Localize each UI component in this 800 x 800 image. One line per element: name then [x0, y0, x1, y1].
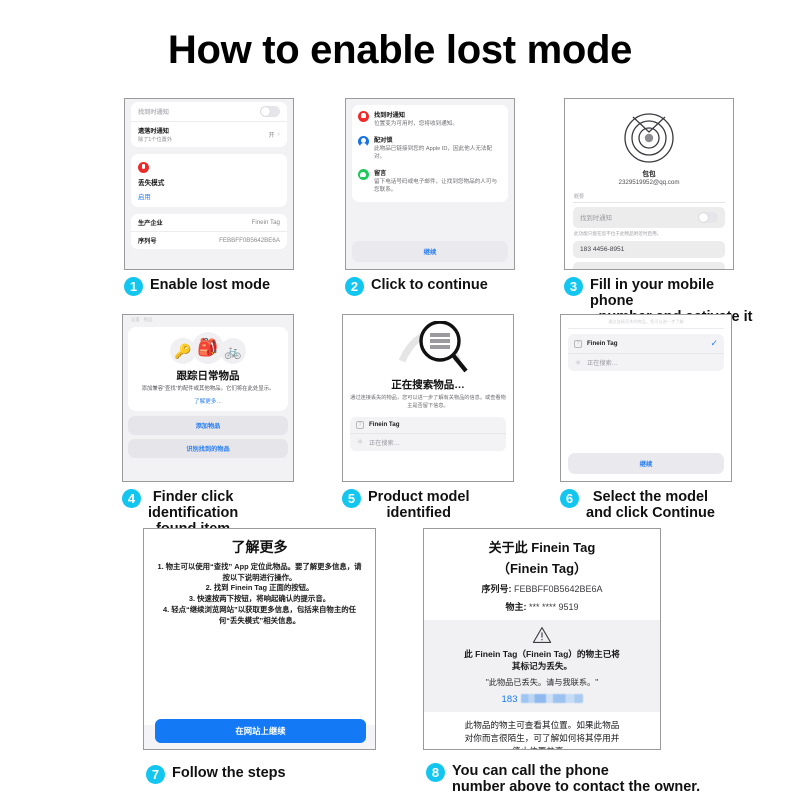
add-item-button[interactable]: 添加物品 — [128, 416, 288, 435]
screenshot-3: 包包 2329519952@qq.com 概要 找到时通知 此功能只能在您不位于… — [564, 98, 734, 270]
row-serial: 序列号 FEBBFF0B5642BE6A — [131, 232, 287, 249]
searching-icon: ✳ — [356, 438, 364, 446]
continue-button[interactable]: 继续 — [568, 453, 724, 474]
step-card-3: 包包 2329519952@qq.com 概要 找到时通知 此功能只能在您不位于… — [564, 98, 761, 326]
panel8-owner-message: "此物品已丢失。请与我联系。" — [436, 676, 648, 688]
caption-7: 7 Follow the steps — [146, 765, 406, 784]
redacted-phone-digits — [521, 694, 583, 703]
learn-more-link[interactable]: 了解更多… — [136, 397, 280, 405]
step-badge-3: 3 — [564, 277, 583, 296]
tag-square-icon: ? — [356, 421, 364, 429]
panel8-heading-1: 关于此 Finein Tag — [434, 537, 650, 556]
panel7-steps: 1. 物主可以使用“查找” App 定位此物品。要了解更多信息，请按以下说明进行… — [154, 562, 365, 626]
panel2-info-card: 找到时通知 位置变为可用时，您将收到通知。 配对锁 此物品已链接到您的 Appl… — [352, 105, 508, 202]
list-item[interactable]: ✳ 正在搜索… — [350, 433, 506, 451]
panel5-device-list: ? Finein Tag ✳ 正在搜索… — [350, 417, 506, 451]
check-icon: ✓ — [710, 338, 718, 349]
panel4-topbar: 设置 ‧ 物品 — [123, 315, 293, 323]
notify-note: 此功能只能在您不位于此物品附近时启用。 — [574, 231, 725, 237]
radar-icon — [620, 108, 678, 166]
steps-row-2: 设置 ‧ 物品 🔑 🎒 🚲 跟踪日常物品 添加兼容“查找”的配件或其他物品。它们… — [0, 314, 800, 538]
divider — [573, 202, 725, 203]
panel2-row-pairing-lock: 配对锁 此物品已链接到您的 Apple ID，因此他人无法配对。 — [358, 135, 502, 161]
panel5-paragraph: 通过连接丢失的物品，您可以进一步了解有关物品的信息。或查看物主是否留下信息。 — [350, 395, 506, 411]
screenshot-4: 设置 ‧ 物品 🔑 🎒 🚲 跟踪日常物品 添加兼容“查找”的配件或其他物品。它们… — [122, 314, 294, 482]
step-caption-8: You can call the phone number above to c… — [452, 763, 700, 795]
screenshot-8: 关于此 Finein Tag （Finein Tag） 序列号: FEBBFF0… — [423, 528, 661, 750]
panel6-device-list: ? Finein Tag ✓ ✳ 正在搜索… — [568, 334, 724, 371]
panel8-warning-line-2: 其标记为丢失。 — [436, 660, 648, 672]
row-notify-left-behind[interactable]: 遗落时通知 除了1个位置外 开 › — [131, 122, 287, 147]
caption-6: 6 Select the model and click Continue — [560, 489, 757, 521]
step-card-1: 找到时通知 遗落时通知 除了1个位置外 开 › — [124, 98, 321, 326]
backpack-icon: 🎒 — [192, 332, 224, 364]
step-badge-1: 1 — [124, 277, 143, 296]
steps-row-3: 了解更多 1. 物主可以使用“查找” App 定位此物品。要了解更多信息，请按以… — [0, 528, 800, 788]
enable-lost-mode-link[interactable]: 启用 — [138, 192, 280, 201]
panel1-group-info: 生产企业 Finein Tag 序列号 FEBBFF0B5642BE6A — [131, 214, 287, 249]
caption-2: 2 Click to continue — [345, 277, 542, 296]
owner-email: 2329519952@qq.com — [573, 179, 725, 186]
continue-on-website-button[interactable]: 在网站上继续 — [155, 719, 366, 743]
list-item[interactable]: ✳ 正在搜索… — [568, 353, 724, 371]
panel4-heading: 跟踪日常物品 — [136, 368, 280, 383]
warning-triangle-icon — [532, 626, 552, 644]
poster-root: How to enable lost mode 找到时通知 遗落时通知 除了1个 — [0, 0, 800, 800]
panel8-owner: 物主: *** **** 9519 — [434, 600, 650, 613]
continue-button[interactable]: 继续 — [352, 241, 508, 262]
step-badge-4: 4 — [122, 489, 141, 508]
identify-found-item-button[interactable]: 识别找到的物品 — [128, 439, 288, 458]
caption-5: 5 Product model identified — [342, 489, 539, 521]
magnifier-icon — [350, 321, 506, 375]
row-notify-found[interactable]: 找到时通知 — [131, 102, 287, 122]
page-title: How to enable lost mode — [0, 28, 800, 73]
searching-icon: ✳ — [574, 359, 582, 367]
panel2-row-notify: 找到时通知 位置变为可用时，您将收到通知。 — [358, 110, 502, 128]
list-item[interactable]: ? Finein Tag — [350, 417, 506, 433]
screenshot-2: 找到时通知 位置变为可用时，您将收到通知。 配对锁 此物品已链接到您的 Appl… — [345, 98, 515, 270]
panel5-heading: 正在搜索物品… — [350, 377, 506, 392]
step-caption-2: Click to continue — [371, 277, 488, 293]
screenshot-7: 了解更多 1. 物主可以使用“查找” App 定位此物品。要了解更多信息，请按以… — [143, 528, 376, 750]
notify-toggle[interactable] — [698, 212, 718, 223]
panel7-heading: 了解更多 — [154, 537, 365, 557]
lost-mode-icon — [138, 162, 149, 173]
panel1-group-1: 找到时通知 遗落时通知 除了1个位置外 开 › — [131, 102, 287, 147]
panel4-card: 🔑 🎒 🚲 跟踪日常物品 添加兼容“查找”的配件或其他物品。它们将在此处显示。 … — [128, 327, 288, 411]
step-caption-7: Follow the steps — [172, 765, 286, 781]
person-icon — [358, 136, 369, 147]
step-badge-7: 7 — [146, 765, 165, 784]
phone-input[interactable]: 183 4456-8951 — [573, 241, 725, 258]
tag-square-icon: ? — [574, 340, 582, 348]
bicycle-icon: 🚲 — [220, 338, 246, 364]
row-manufacturer: 生产企业 Finein Tag — [131, 214, 287, 232]
list-item[interactable]: ? Finein Tag ✓ — [568, 334, 724, 353]
step-card-6: 通过连接丢失的物品，您可以进一步了解 ? Finein Tag ✓ ✳ 正在搜索… — [560, 314, 757, 538]
step-caption-1: Enable lost mode — [150, 277, 270, 293]
caption-1: 1 Enable lost mode — [124, 277, 321, 296]
panel1-group-lost-mode: 丢失模式 启用 — [131, 154, 287, 207]
step-card-5: 正在搜索物品… 通过连接丢失的物品，您可以进一步了解有关物品的信息。或查看物主是… — [342, 314, 539, 538]
caption-8: 8 You can call the phone number above to… — [426, 763, 726, 795]
screenshot-1: 找到时通知 遗落时通知 除了1个位置外 开 › — [124, 98, 294, 270]
step-badge-6: 6 — [560, 489, 579, 508]
section-label: 概要 — [574, 193, 725, 200]
lost-mode-title: 丢失模式 — [138, 177, 280, 187]
panel8-phone-number[interactable]: 183 — [436, 693, 648, 704]
panel4-paragraph: 添加兼容“查找”的配件或其他物品。它们将在此处显示。 — [136, 386, 280, 394]
step-caption-5: Product model identified — [368, 489, 470, 521]
step-badge-8: 8 — [426, 763, 445, 782]
step-badge-5: 5 — [342, 489, 361, 508]
panel8-serial: 序列号: FEBBFF0B5642BE6A — [434, 582, 650, 595]
screenshot-6: 通过连接丢失的物品，您可以进一步了解 ? Finein Tag ✓ ✳ 正在搜索… — [560, 314, 732, 482]
lost-message-input[interactable]: 此物品已丢失。请与我联系。 — [573, 262, 725, 270]
step-badge-2: 2 — [345, 277, 364, 296]
notify-found-toggle[interactable] — [260, 106, 280, 117]
screenshot-5: 正在搜索物品… 通过连接丢失的物品，您可以进一步了解有关物品的信息。或查看物主是… — [342, 314, 514, 482]
panel8-warning-line-1: 此 Finein Tag（Finein Tag）的物主已将 — [436, 648, 648, 660]
device-name: 包包 — [573, 168, 725, 178]
steps-row-1: 找到时通知 遗落时通知 除了1个位置外 开 › — [0, 98, 800, 326]
panel6-header: 通过连接丢失的物品，您可以进一步了解 — [568, 319, 724, 329]
notify-when-found-field[interactable]: 找到时通知 — [573, 207, 725, 228]
message-icon — [358, 169, 369, 180]
bell-icon — [358, 111, 369, 122]
chevron-right-icon: › — [278, 131, 280, 138]
step-card-2: 找到时通知 位置变为可用时，您将收到通知。 配对锁 此物品已链接到您的 Appl… — [345, 98, 542, 326]
step-caption-6: Select the model and click Continue — [586, 489, 715, 521]
step-card-4: 设置 ‧ 物品 🔑 🎒 🚲 跟踪日常物品 添加兼容“查找”的配件或其他物品。它们… — [122, 314, 319, 538]
panel2-row-message: 留言 留下电话号码或电子邮件，让找到您物品的人可与您联系。 — [358, 168, 502, 194]
panel8-heading-2: （Finein Tag） — [434, 558, 650, 577]
